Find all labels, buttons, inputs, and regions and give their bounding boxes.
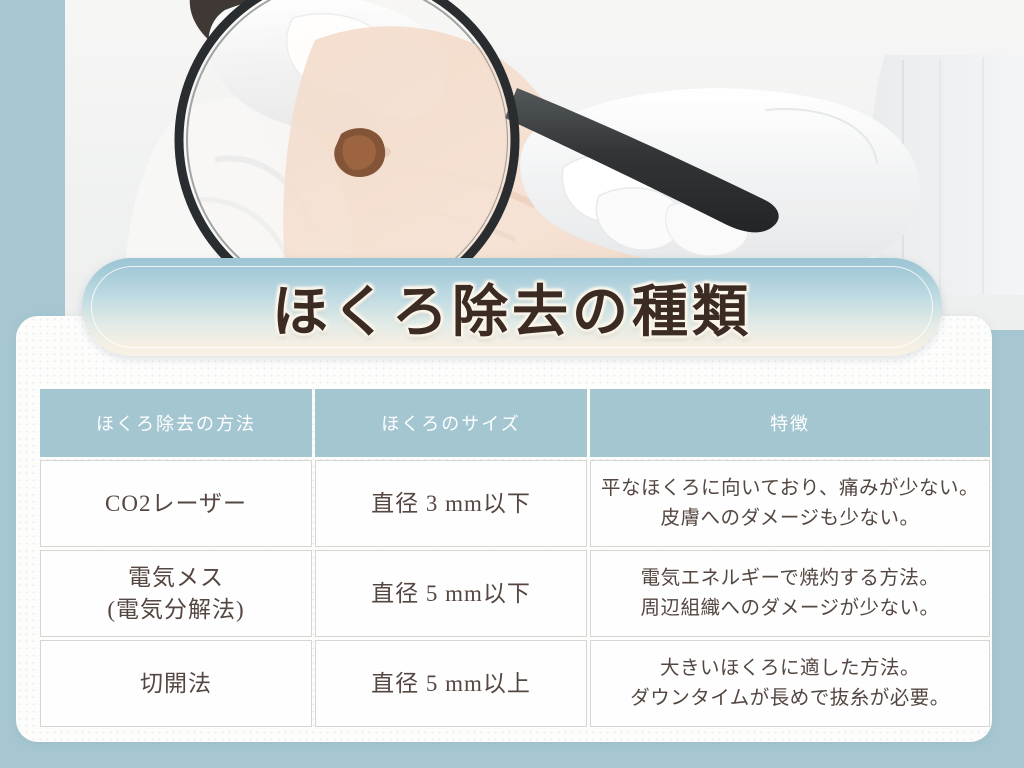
method-name: CO2レーザー bbox=[105, 491, 247, 516]
feature-line-1: 電気エネルギーで焼灼する方法。 bbox=[641, 568, 940, 589]
method-name: 切開法 bbox=[140, 671, 212, 696]
method-name: 電気メス bbox=[128, 565, 224, 590]
feature-line-2: ダウンタイムが長めで抜糸が必要。 bbox=[630, 688, 950, 709]
cell-feature: 大きいほくろに適した方法。 ダウンタイムが長めで抜糸が必要。 bbox=[590, 640, 990, 727]
cell-method: 電気メス (電気分解法) bbox=[40, 550, 312, 637]
poster-root: ほくろ除去の種類 ほくろ除去の方法 ほくろのサイズ 特徴 CO2レーザー 直径 … bbox=[0, 0, 1024, 768]
table-row: CO2レーザー 直径 3 mm以下 平なほくろに向いており、痛みが少ない。 皮膚… bbox=[40, 460, 990, 547]
table-header-feature: 特徴 bbox=[590, 389, 990, 457]
feature-line-2: 周辺組織へのダメージが少ない。 bbox=[640, 598, 939, 619]
feature-line-1: 大きいほくろに適した方法。 bbox=[660, 658, 920, 679]
cell-size: 直径 5 mm以上 bbox=[315, 640, 587, 727]
feature-line-2: 皮膚へのダメージも少ない。 bbox=[660, 508, 919, 529]
mole-removal-table: ほくろ除去の方法 ほくろのサイズ 特徴 CO2レーザー 直径 3 mm以下 平な… bbox=[37, 386, 993, 730]
table-row: 電気メス (電気分解法) 直径 5 mm以下 電気エネルギーで焼灼する方法。 周… bbox=[40, 550, 990, 637]
method-subname: (電気分解法) bbox=[42, 594, 310, 626]
table-row: 切開法 直径 5 mm以上 大きいほくろに適した方法。 ダウンタイムが長めで抜糸… bbox=[40, 640, 990, 727]
table-header-row: ほくろ除去の方法 ほくろのサイズ 特徴 bbox=[40, 389, 990, 457]
title-banner: ほくろ除去の種類 bbox=[82, 258, 942, 356]
cell-method: CO2レーザー bbox=[40, 460, 312, 547]
cell-method: 切開法 bbox=[40, 640, 312, 727]
feature-line-1: 平なほくろに向いており、痛みが少ない。 bbox=[601, 478, 979, 499]
cell-size: 直径 5 mm以下 bbox=[315, 550, 587, 637]
table-header-size: ほくろのサイズ bbox=[315, 389, 587, 457]
page-title: ほくろ除去の種類 bbox=[82, 258, 942, 356]
cell-feature: 電気エネルギーで焼灼する方法。 周辺組織へのダメージが少ない。 bbox=[590, 550, 990, 637]
table-header-method: ほくろ除去の方法 bbox=[40, 389, 312, 457]
cell-size: 直径 3 mm以下 bbox=[315, 460, 587, 547]
cell-feature: 平なほくろに向いており、痛みが少ない。 皮膚へのダメージも少ない。 bbox=[590, 460, 990, 547]
